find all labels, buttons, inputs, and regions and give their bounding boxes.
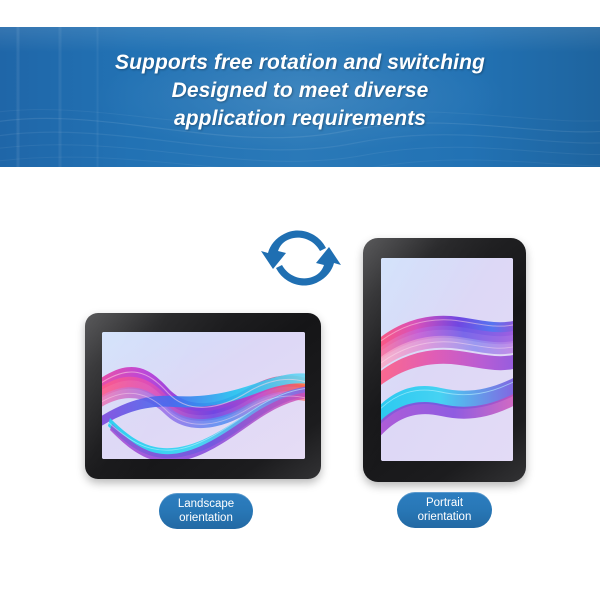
caption-landscape-orientation[interactable]: Landscape orientation [159, 493, 253, 529]
caption-portrait-line-2: orientation [418, 510, 472, 524]
wallpaper-abstract-waves-portrait [381, 258, 513, 461]
tablet-portrait-screen [381, 258, 513, 461]
wallpaper-abstract-waves-landscape [102, 332, 305, 459]
caption-portrait-line-1: Portrait [426, 496, 463, 510]
banner-headline-line-3: application requirements [0, 105, 600, 133]
banner-headline-line-2: Designed to meet diverse [0, 77, 600, 105]
tablet-landscape[interactable] [85, 313, 321, 479]
tablet-portrait[interactable] [363, 238, 526, 482]
caption-portrait-orientation[interactable]: Portrait orientation [397, 492, 492, 528]
product-illustration-stage: Landscape orientation Portrait orientati… [0, 167, 600, 600]
caption-landscape-line-1: Landscape [178, 497, 234, 511]
rotation-arrows-icon [258, 222, 344, 294]
caption-landscape-line-2: orientation [179, 511, 233, 525]
tablet-landscape-screen [102, 332, 305, 459]
hero-banner: Supports free rotation and switching Des… [0, 27, 600, 167]
banner-headline: Supports free rotation and switching Des… [0, 49, 600, 133]
banner-headline-line-1: Supports free rotation and switching [0, 49, 600, 77]
